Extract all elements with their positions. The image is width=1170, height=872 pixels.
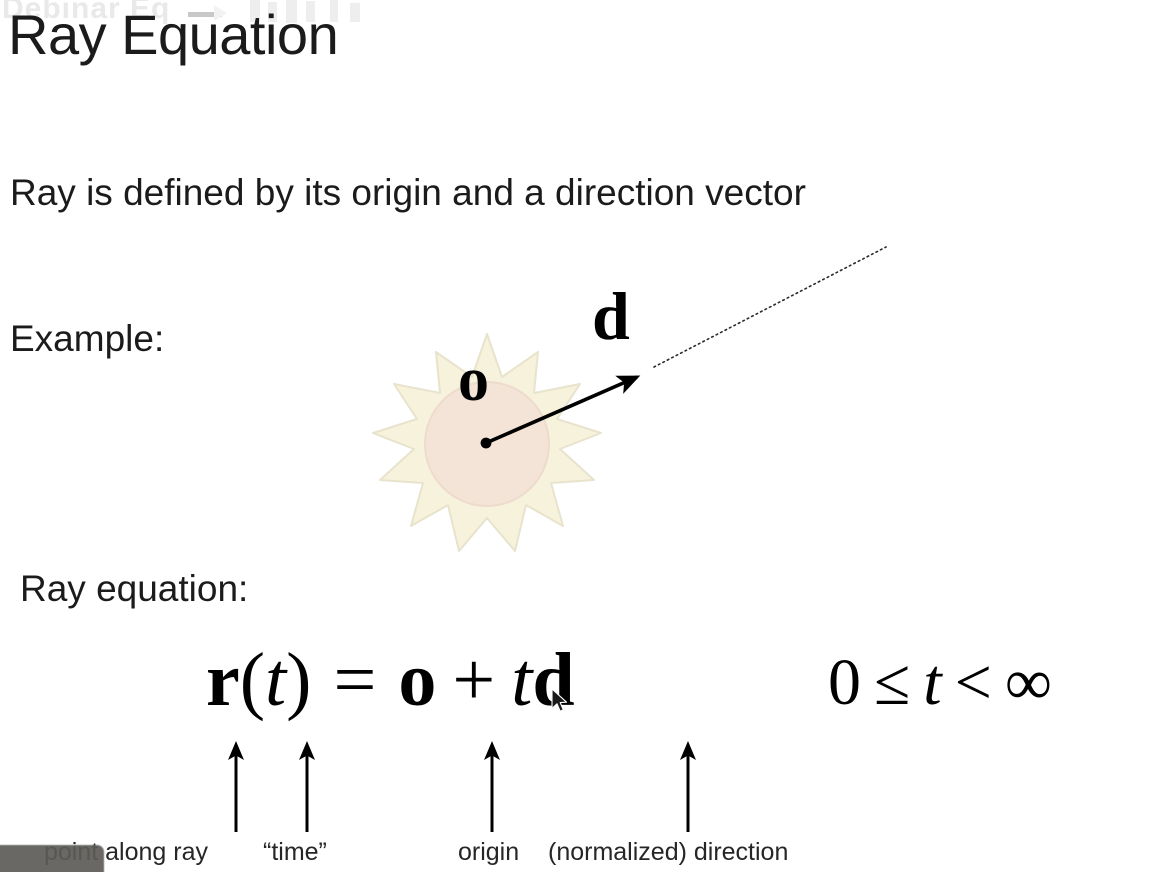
eq-t-scalar: t	[511, 638, 532, 722]
annotation-arrow-direction	[675, 740, 701, 832]
slide-canvas: Debinar Eq Ray Equation Ray is defined b…	[0, 0, 1170, 872]
parameter-range-formula: 0≤t<∞	[828, 650, 1052, 716]
ray-equation-formula: r(t)=o+td	[206, 642, 575, 718]
direction-glyph-label: d	[592, 282, 630, 350]
definition-text: Ray is defined by its origin and a direc…	[10, 172, 806, 214]
range-lt: <	[955, 646, 992, 719]
mouse-cursor-icon	[551, 688, 571, 716]
eq-r: r	[206, 638, 240, 722]
eq-equals: =	[333, 638, 376, 722]
range-zero: 0	[828, 646, 861, 719]
range-infinity: ∞	[1005, 646, 1052, 719]
range-leq: ≤	[874, 646, 910, 719]
annotation-arrow-point-along-ray	[223, 740, 249, 832]
slide-title: Ray Equation	[8, 6, 338, 65]
origin-glyph-label: o	[458, 349, 489, 411]
ray-equation-label: Ray equation:	[20, 568, 248, 610]
eq-plus: +	[452, 638, 495, 722]
eq-close-paren: )	[286, 638, 311, 722]
eq-open-paren: (	[240, 638, 265, 722]
caption-direction: (normalized) direction	[548, 838, 788, 867]
video-player-control-overlay[interactable]	[0, 845, 104, 872]
eq-t-arg: t	[265, 638, 286, 722]
example-label: Example:	[10, 318, 164, 360]
range-t: t	[923, 646, 941, 719]
annotation-arrow-origin	[479, 740, 505, 832]
ghost-bar	[350, 3, 360, 22]
eq-o: o	[398, 638, 436, 722]
caption-origin: origin	[458, 838, 519, 867]
caption-time: “time”	[263, 838, 327, 867]
annotation-arrow-time	[294, 740, 320, 832]
